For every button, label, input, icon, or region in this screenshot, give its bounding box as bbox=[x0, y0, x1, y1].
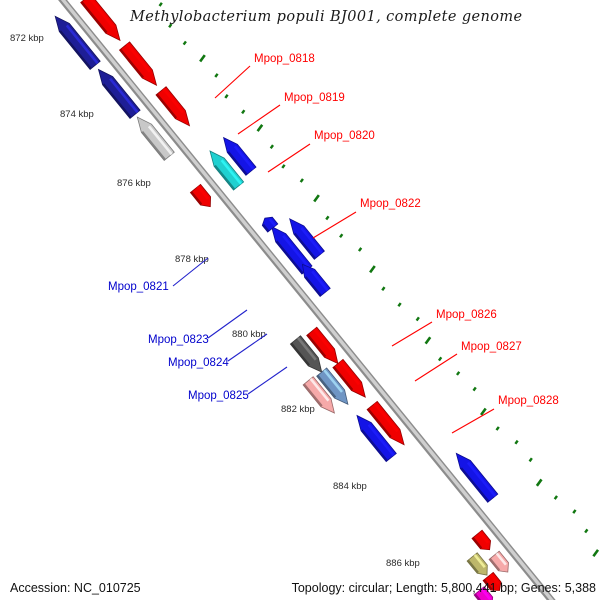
gene-label-leader-line bbox=[268, 144, 310, 172]
gene-label-layer[interactable]: Methylobacterium populi BJ001, complete … bbox=[0, 0, 600, 600]
gene-label-leader-line bbox=[452, 409, 494, 433]
gene-label[interactable]: Mpop_0822 bbox=[360, 198, 421, 210]
gene-label[interactable]: Mpop_0827 bbox=[461, 341, 522, 353]
status-bar: Accession: NC_010725 Topology: circular;… bbox=[0, 574, 600, 600]
axis-tick-label: 876 kbp bbox=[117, 178, 151, 189]
axis-tick-label: 882 kbp bbox=[281, 404, 315, 415]
gene-label[interactable]: Mpop_0818 bbox=[254, 53, 315, 65]
gene-label[interactable]: Mpop_0824 bbox=[168, 357, 229, 369]
axis-tick-label: 884 kbp bbox=[333, 481, 367, 492]
axis-tick-label: 872 kbp bbox=[10, 33, 44, 44]
gene-label[interactable]: Mpop_0825 bbox=[188, 390, 249, 402]
gene-label[interactable]: Mpop_0819 bbox=[284, 92, 345, 104]
gene-label-leader-line bbox=[248, 367, 287, 394]
gene-label[interactable]: Mpop_0828 bbox=[498, 395, 559, 407]
page-title: Methylobacterium populi BJ001, complete … bbox=[129, 9, 523, 25]
gene-label[interactable]: Mpop_0821 bbox=[108, 281, 169, 293]
gene-label[interactable]: Mpop_0820 bbox=[314, 130, 375, 142]
axis-tick-label: 874 kbp bbox=[60, 109, 94, 120]
axis-tick-label: 878 kbp bbox=[175, 254, 209, 265]
genome-map-canvas[interactable]: Methylobacterium populi BJ001, complete … bbox=[0, 0, 600, 600]
gene-label-leader-line bbox=[238, 105, 280, 134]
gene-label[interactable]: Mpop_0823 bbox=[148, 334, 209, 346]
gene-labels[interactable]: Mpop_0818Mpop_0819Mpop_0820Mpop_0822Mpop… bbox=[108, 53, 559, 433]
genome-stats-text: Topology: circular; Length: 5,800,441 bp… bbox=[292, 581, 596, 595]
gene-label-leader-line bbox=[415, 354, 457, 381]
gene-label-leader-line bbox=[313, 212, 356, 238]
gene-label-leader-line bbox=[392, 322, 432, 346]
axis-tick-label: 886 kbp bbox=[386, 558, 420, 569]
axis-tick-labels: 872 kbp874 kbp876 kbp878 kbp880 kbp882 k… bbox=[10, 33, 420, 569]
gene-label[interactable]: Mpop_0826 bbox=[436, 309, 497, 321]
gene-label-leader-line bbox=[215, 66, 250, 98]
accession-text: Accession: NC_010725 bbox=[10, 581, 141, 595]
